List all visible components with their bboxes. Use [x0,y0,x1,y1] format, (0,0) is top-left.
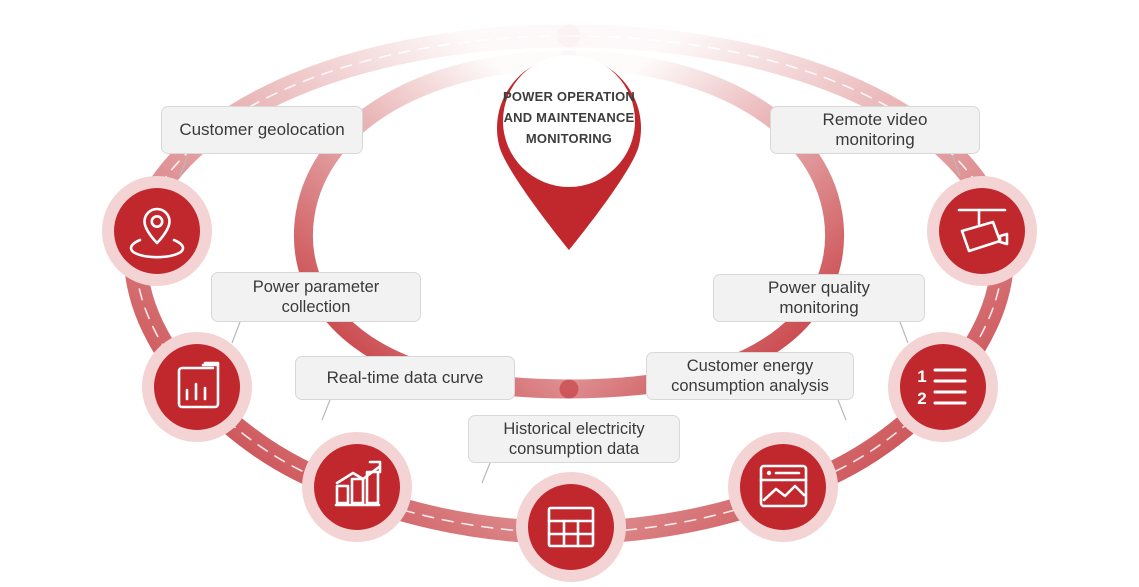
node-real-time-data-curve[interactable] [302,432,412,542]
svg-text:1: 1 [917,367,926,386]
label-historical-electricity-consumption-data[interactable]: Historical electricity consumption data [468,415,680,463]
label-power-parameter-collection[interactable]: Power parameter collection [211,272,421,322]
node-power-parameter-collection[interactable] [142,332,252,442]
page-title: POWER OPERATION AND MAINTENANCE MONITORI… [484,86,654,149]
label-customer-energy-consumption-analysis[interactable]: Customer energy consumption analysis [646,352,854,400]
svg-text:2: 2 [917,389,926,408]
node-customer-energy-consumption-analysis[interactable] [728,432,838,542]
node-customer-geolocation[interactable] [102,176,212,286]
node-power-quality-monitoring[interactable]: 1 2 [888,332,998,442]
diagram-canvas: 1 2 [0,0,1139,587]
label-remote-video-monitoring[interactable]: Remote video monitoring [770,106,980,154]
node-remote-video-monitoring[interactable] [927,176,1037,286]
label-power-quality-monitoring[interactable]: Power quality monitoring [713,274,925,322]
label-real-time-data-curve[interactable]: Real-time data curve [295,356,515,400]
label-customer-geolocation[interactable]: Customer geolocation [161,106,363,154]
node-historical-electricity-consumption-data[interactable] [516,472,626,582]
central-map-pin [497,55,641,250]
